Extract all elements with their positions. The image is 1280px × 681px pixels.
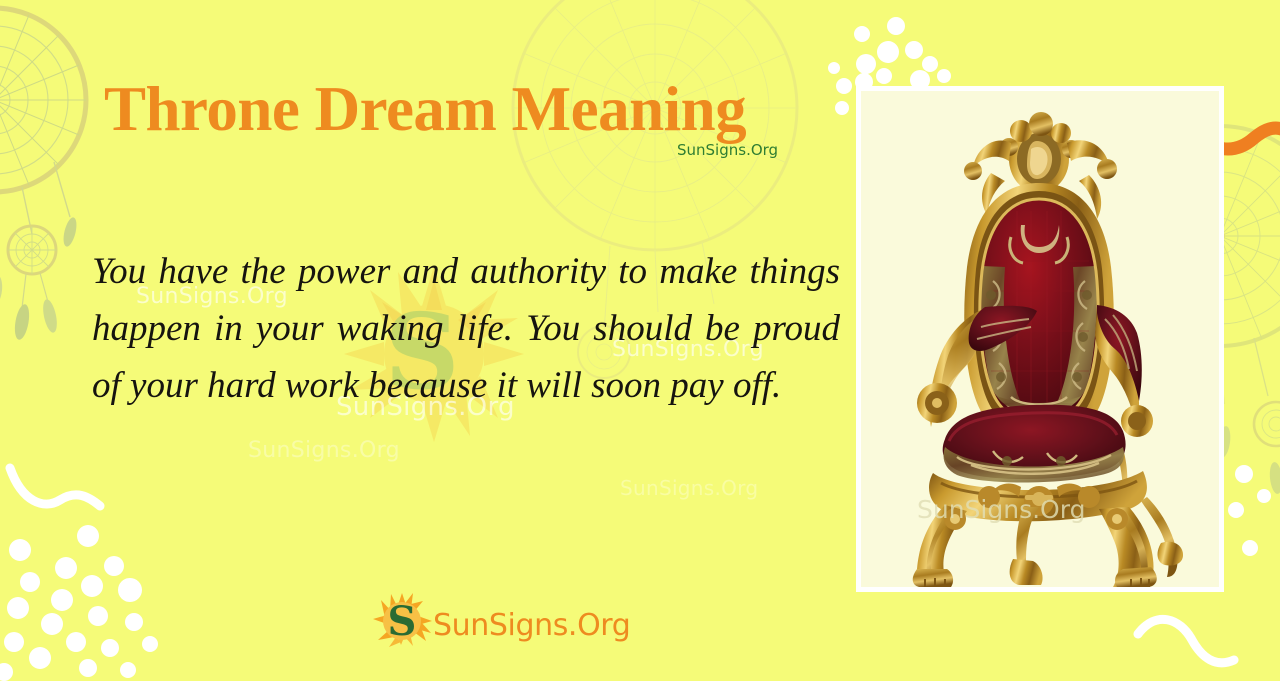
page-title: Throne Dream Meaning xyxy=(104,77,746,141)
body-paragraph: You have the power and authority to make… xyxy=(92,243,840,414)
white-dots-decoration xyxy=(0,524,190,681)
white-wave-decoration xyxy=(1130,612,1270,681)
poster-canvas: S xyxy=(0,0,1280,681)
photo-watermark: SunSigns.Org xyxy=(917,495,1085,524)
sun-logo-icon: S xyxy=(371,593,433,651)
throne-photo: SunSigns.Org xyxy=(856,86,1224,592)
site-logo[interactable]: S SunSigns.Org xyxy=(371,592,630,652)
site-logo-text: SunSigns.Org xyxy=(433,608,630,643)
white-wave-decoration xyxy=(4,462,134,527)
watermark-text: SunSigns.Org xyxy=(620,476,758,500)
svg-text:S: S xyxy=(388,598,417,645)
watermark-text: SunSigns.Org xyxy=(248,438,400,463)
brand-subtitle: SunSigns.Org xyxy=(677,141,778,159)
throne-photo-background: SunSigns.Org xyxy=(861,91,1219,587)
